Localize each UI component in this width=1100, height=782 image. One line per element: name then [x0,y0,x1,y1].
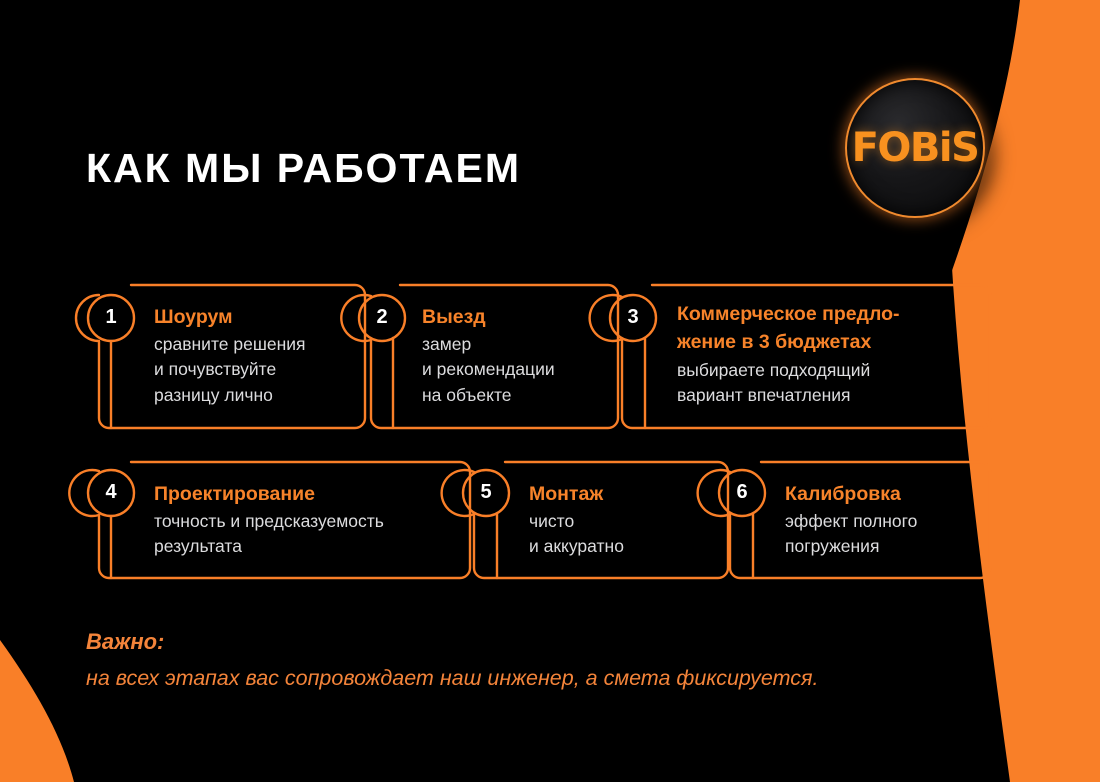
step-card-6-body: эффект полного погружения [785,509,985,559]
step-card-5-body: чисто и аккуратно [529,509,719,559]
step-card-2-content: Выезд замер и рекомендации на объекте [422,303,612,408]
step-badge-3: 3 [617,306,649,329]
step-card-2-body: замер и рекомендации на объекте [422,332,612,408]
step-badge-5: 5 [470,481,502,504]
step-card-3-content: Коммерческое предло- жение в 3 бюджетах … [677,300,987,408]
slide-canvas: FOBiS КАК МЫ РАБОТАЕМ [0,0,1100,782]
step-card-6-content: Калибровка эффект полного погружения [785,480,985,560]
step-card-1-body: сравните решения и почувствуйте разницу … [154,332,359,408]
step-card-6-heading: Калибровка [785,480,985,508]
step-card-3-heading: Коммерческое предло- жение в 3 бюджетах [677,300,987,357]
step-badge-2: 2 [366,306,398,329]
step-badge-4: 4 [95,481,127,504]
important-note: Важно: на всех этапах вас сопровождает н… [86,625,819,694]
step-card-4-body: точность и предсказуемость результата [154,509,464,559]
step-card-1-content: Шоурум сравните решения и почувствуйте р… [154,303,359,408]
step-badge-6: 6 [726,481,758,504]
step-card-2-heading: Выезд [422,303,612,331]
step-card-5-heading: Монтаж [529,480,719,508]
step-card-3-body: выбираете подходящий вариант впечатления [677,358,987,408]
step-badge-1: 1 [95,306,127,329]
step-card-4-heading: Проектирование [154,480,464,508]
step-card-1-heading: Шоурум [154,303,359,331]
important-note-label: Важно: [86,625,819,658]
step-card-4-content: Проектирование точность и предсказуемост… [154,480,464,560]
important-note-body: на всех этапах вас сопровождает наш инже… [86,662,819,694]
step-card-5-content: Монтаж чисто и аккуратно [529,480,719,560]
